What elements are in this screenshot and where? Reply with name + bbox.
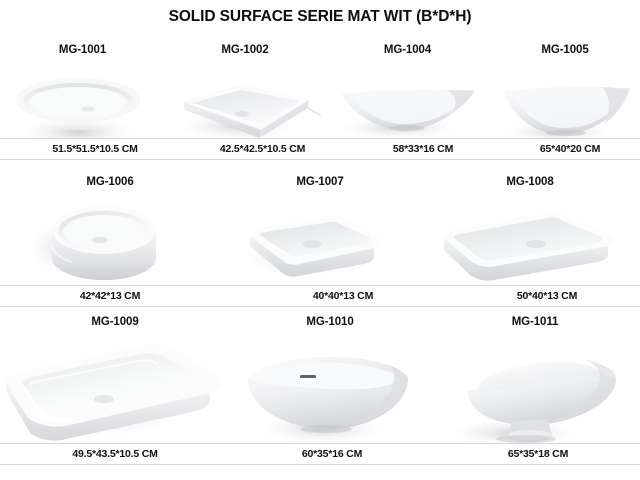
dimension-label: 42.5*42.5*10.5 CM <box>165 139 360 159</box>
product-name: MG-1002 <box>165 44 325 56</box>
dimension-band: 42*42*13 CM 40*40*13 CM 50*40*13 CM <box>0 285 640 307</box>
product-cell-mg-1009[interactable]: MG-1009 <box>0 316 230 464</box>
product-name: MG-1011 <box>430 316 640 328</box>
dimension-band: 51.5*51.5*10.5 CM 42.5*42.5*10.5 CM 58*3… <box>0 138 640 160</box>
dimension-label: 60*35*16 CM <box>232 444 432 464</box>
product-cell-mg-1010[interactable]: MG-1010 <box>230 316 430 464</box>
dimension-label: 40*40*13 CM <box>248 286 438 306</box>
dimension-label: 65*35*18 CM <box>438 444 638 464</box>
product-cell-mg-1008[interactable]: MG-1008 <box>420 176 640 302</box>
product-name: MG-1009 <box>0 316 230 328</box>
product-name: MG-1006 <box>0 176 220 188</box>
dimension-label: 49.5*43.5*10.5 CM <box>0 444 230 464</box>
product-name: MG-1010 <box>230 316 430 328</box>
product-name: MG-1008 <box>420 176 640 188</box>
dimension-band: 49.5*43.5*10.5 CM 60*35*16 CM 65*35*18 C… <box>0 443 640 465</box>
dimension-label: 50*40*13 CM <box>452 286 640 306</box>
dimension-label: 51.5*51.5*10.5 CM <box>0 139 190 159</box>
product-cell-mg-1007[interactable]: MG-1007 <box>220 176 420 302</box>
product-name: MG-1007 <box>220 176 420 188</box>
dimension-label: 42*42*13 CM <box>0 286 220 306</box>
product-name: MG-1005 <box>490 44 640 56</box>
product-row: MG-1009 <box>0 316 640 464</box>
product-row: MG-1006 <box>0 176 640 302</box>
dimension-label: 65*40*20 CM <box>500 139 640 159</box>
product-name: MG-1004 <box>325 44 490 56</box>
product-name: MG-1001 <box>0 44 165 56</box>
page-title: SOLID SURFACE SERIE MAT WIT (B*D*H) <box>0 8 640 26</box>
product-cell-mg-1006[interactable]: MG-1006 <box>0 176 220 302</box>
product-cell-mg-1011[interactable]: MG-1011 <box>430 316 640 464</box>
dimension-label: 58*33*16 CM <box>338 139 508 159</box>
